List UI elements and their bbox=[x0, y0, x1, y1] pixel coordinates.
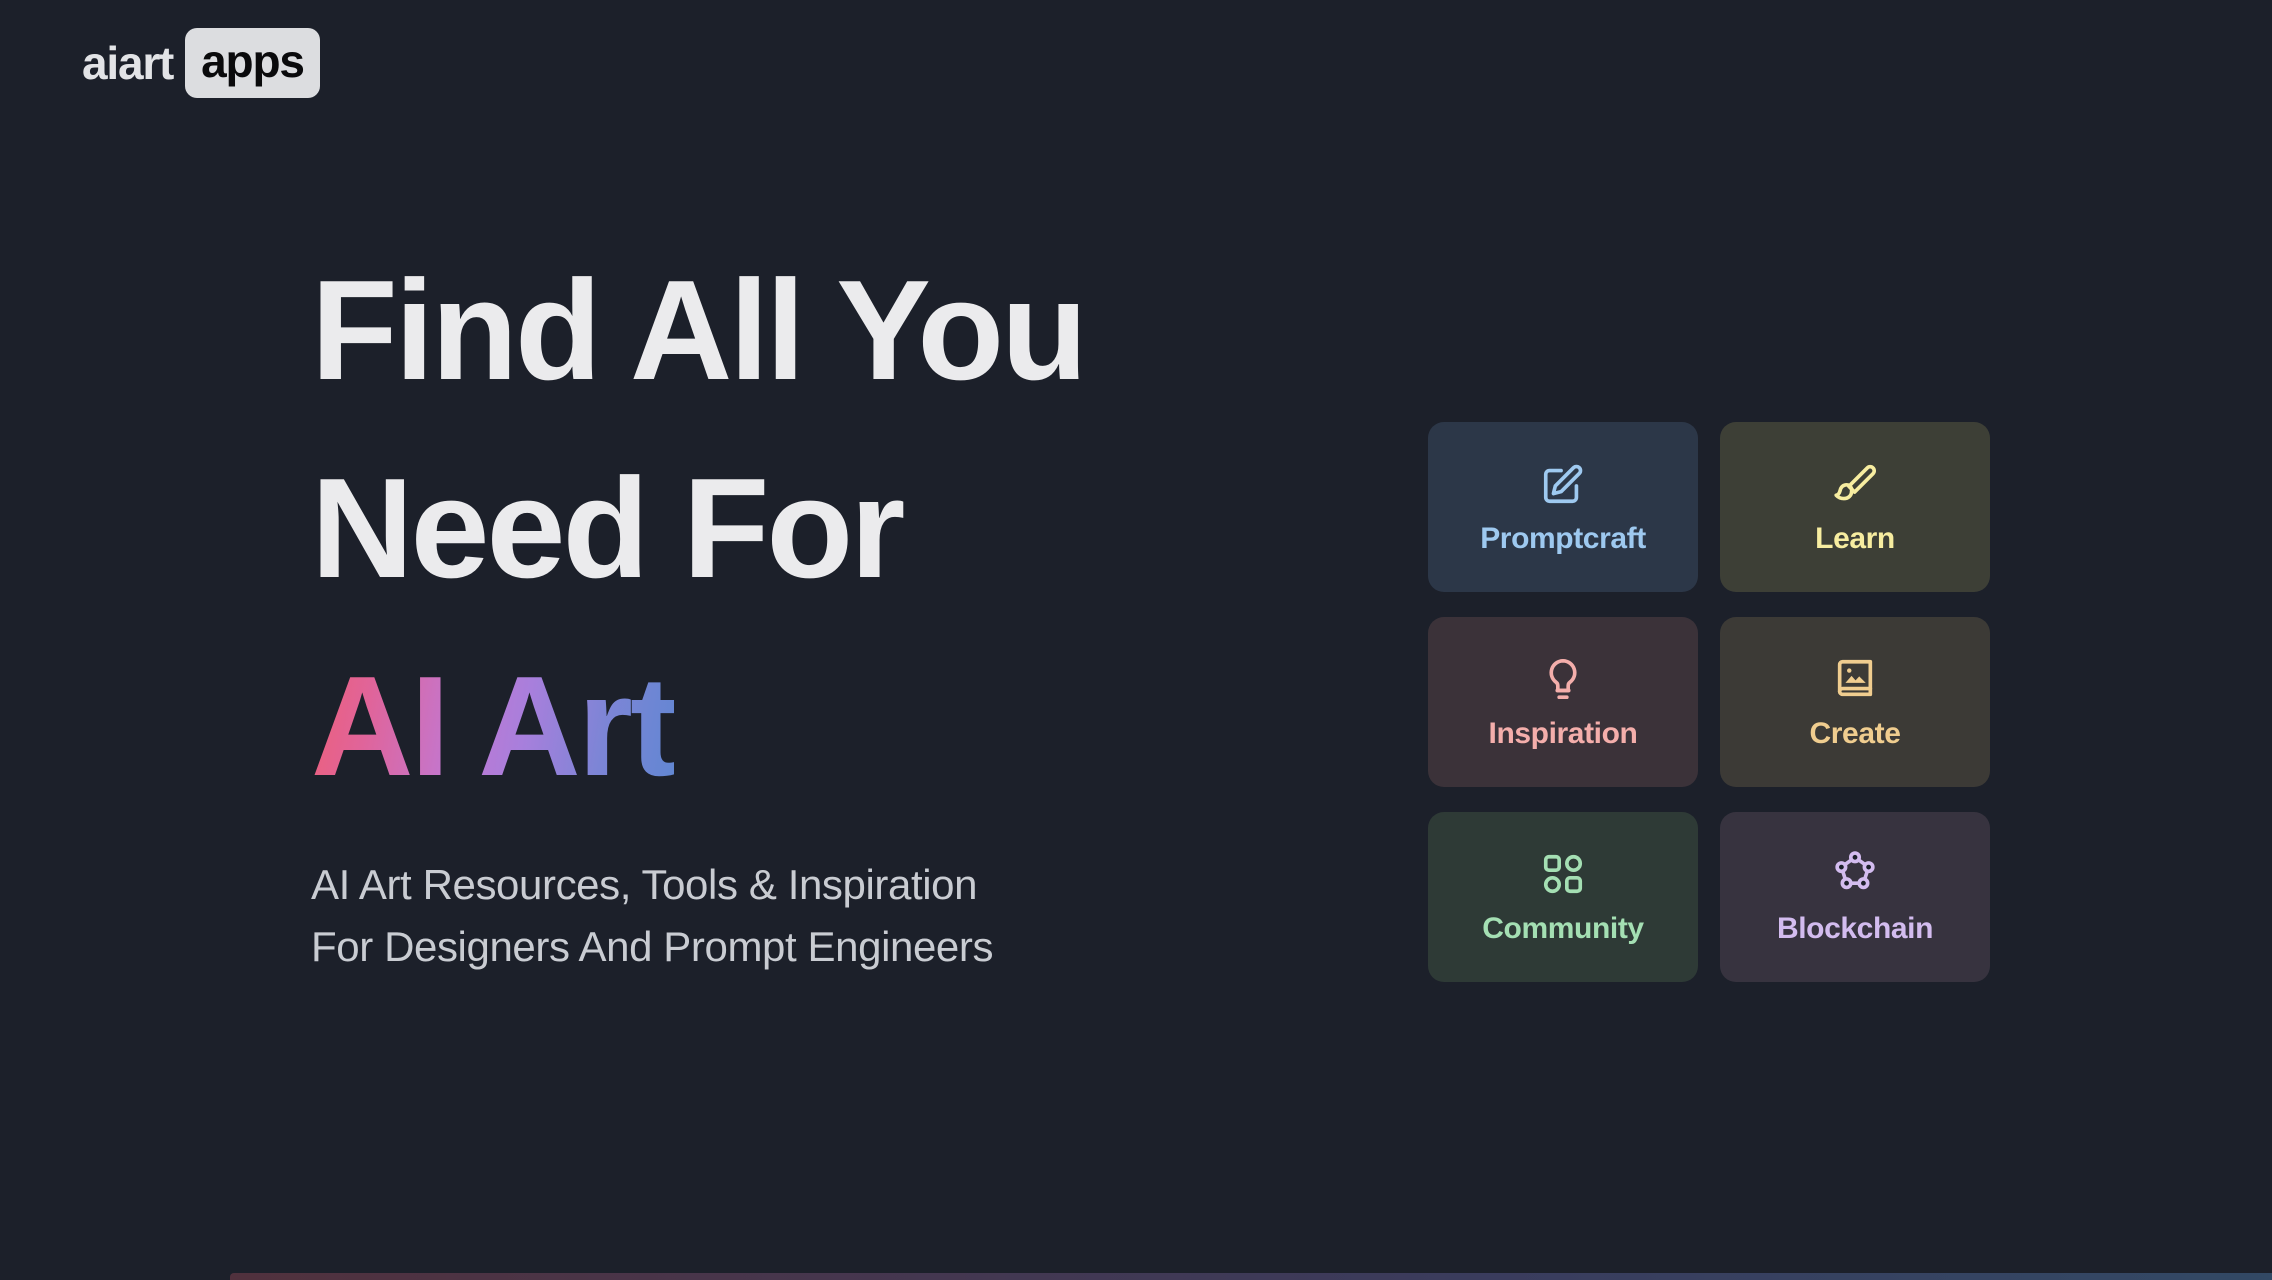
headline-line-1: Find All You bbox=[311, 232, 1311, 430]
feature-card-create[interactable]: Create bbox=[1720, 617, 1990, 787]
site-header: aiart apps bbox=[82, 28, 320, 98]
feature-card-grid: Promptcraft Learn Inspiration bbox=[1428, 422, 1990, 982]
hero-section: Find All You Need For AI Art AI Art Reso… bbox=[311, 232, 1311, 978]
feature-label: Inspiration bbox=[1489, 719, 1638, 749]
grid-shapes-icon bbox=[1539, 850, 1587, 898]
edit-square-icon bbox=[1539, 460, 1587, 508]
network-nodes-icon bbox=[1831, 850, 1879, 898]
feature-card-inspiration[interactable]: Inspiration bbox=[1428, 617, 1698, 787]
headline-accent: AI Art bbox=[311, 628, 674, 826]
bottom-gradient-strip bbox=[230, 1273, 2272, 1280]
headline-line-2: Need For bbox=[311, 430, 1311, 628]
logo-badge: apps bbox=[185, 28, 320, 98]
feature-card-learn[interactable]: Learn bbox=[1720, 422, 1990, 592]
paintbrush-icon bbox=[1831, 460, 1879, 508]
feature-label: Learn bbox=[1815, 524, 1895, 554]
feature-label: Create bbox=[1810, 719, 1901, 749]
logo-word: aiart bbox=[82, 40, 185, 86]
feature-card-blockchain[interactable]: Blockchain bbox=[1720, 812, 1990, 982]
lightbulb-icon bbox=[1539, 655, 1587, 703]
site-logo[interactable]: aiart apps bbox=[82, 28, 320, 98]
subtitle-line-1: AI Art Resources, Tools & Inspiration bbox=[311, 854, 1311, 916]
feature-label: Community bbox=[1482, 914, 1643, 944]
feature-label: Promptcraft bbox=[1480, 524, 1646, 554]
subtitle-line-2: For Designers And Prompt Engineers bbox=[311, 916, 1311, 978]
feature-card-community[interactable]: Community bbox=[1428, 812, 1698, 982]
headline-accent-wrap: AI Art bbox=[311, 628, 1311, 826]
feature-card-promptcraft[interactable]: Promptcraft bbox=[1428, 422, 1698, 592]
feature-label: Blockchain bbox=[1777, 914, 1933, 944]
image-book-icon bbox=[1831, 655, 1879, 703]
